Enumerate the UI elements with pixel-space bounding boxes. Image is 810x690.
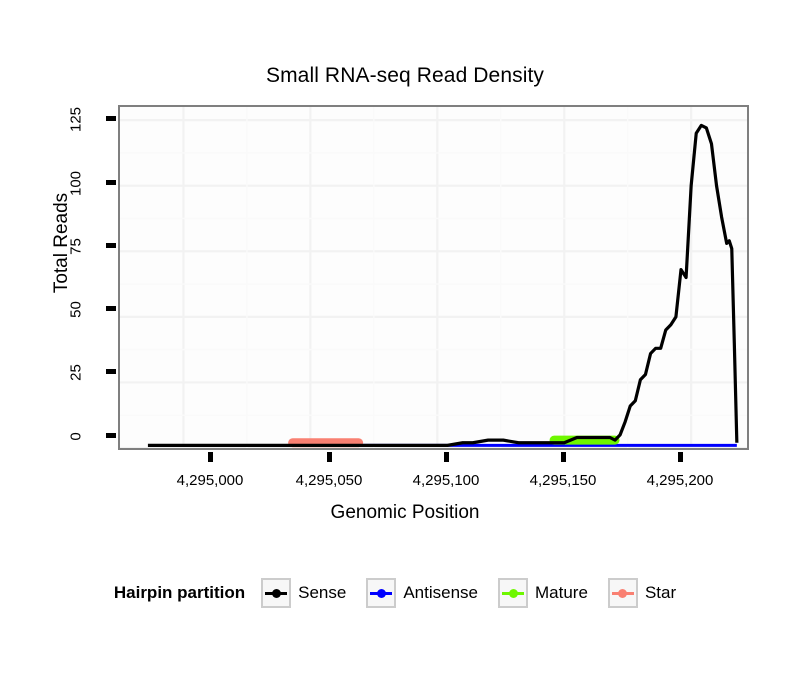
y-tick-mark-125 [106,116,116,121]
y-tick-label-50: 50 [68,288,85,332]
chart-legend: Hairpin partition Sense Antisense Mature [0,578,810,608]
x-tick-mark-0 [208,452,213,462]
legend-key-antisense [366,578,396,608]
legend-label-star: Star [645,583,676,603]
x-tick-label-1: 4,295,050 [269,472,389,489]
y-tick-mark-0 [106,433,116,438]
x-axis-title: Genomic Position [0,502,810,524]
y-tick-label-125: 125 [68,98,85,142]
x-tick-label-2: 4,295,100 [386,472,506,489]
x-tick-mark-4 [678,452,683,462]
y-tick-mark-75 [106,243,116,248]
data-series-layer [120,107,747,448]
legend-key-dot-antisense [377,589,386,598]
legend-label-mature: Mature [535,583,588,603]
y-tick-label-75: 75 [68,225,85,269]
y-tick-mark-50 [106,306,116,311]
y-tick-mark-100 [106,180,116,185]
legend-title: Hairpin partition [114,583,245,603]
legend-entry-antisense[interactable]: Antisense [366,578,492,608]
x-tick-label-4: 4,295,200 [620,472,740,489]
chart-title: Small RNA-seq Read Density [0,64,810,88]
series-sense [148,125,737,445]
legend-key-star [608,578,638,608]
x-tick-label-0: 4,295,000 [150,472,270,489]
x-tick-label-3: 4,295,150 [503,472,623,489]
x-tick-mark-1 [327,452,332,462]
legend-key-dot-star [618,589,627,598]
y-tick-label-25: 25 [68,351,85,395]
y-tick-label-100: 100 [68,162,85,206]
chart-figure: Small RNA-seq Read Density Total Reads 1… [0,0,810,690]
y-tick-mark-25 [106,369,116,374]
legend-key-mature [498,578,528,608]
x-tick-mark-3 [561,452,566,462]
y-tick-label-0: 0 [68,415,85,459]
legend-key-dot-mature [509,589,518,598]
legend-key-dot-sense [272,589,281,598]
legend-entry-star[interactable]: Star [608,578,690,608]
legend-key-sense [261,578,291,608]
legend-entry-mature[interactable]: Mature [498,578,602,608]
legend-label-sense: Sense [298,583,346,603]
x-tick-mark-2 [444,452,449,462]
plot-panel [118,105,749,450]
legend-label-antisense: Antisense [403,583,478,603]
legend-entry-sense[interactable]: Sense [261,578,360,608]
